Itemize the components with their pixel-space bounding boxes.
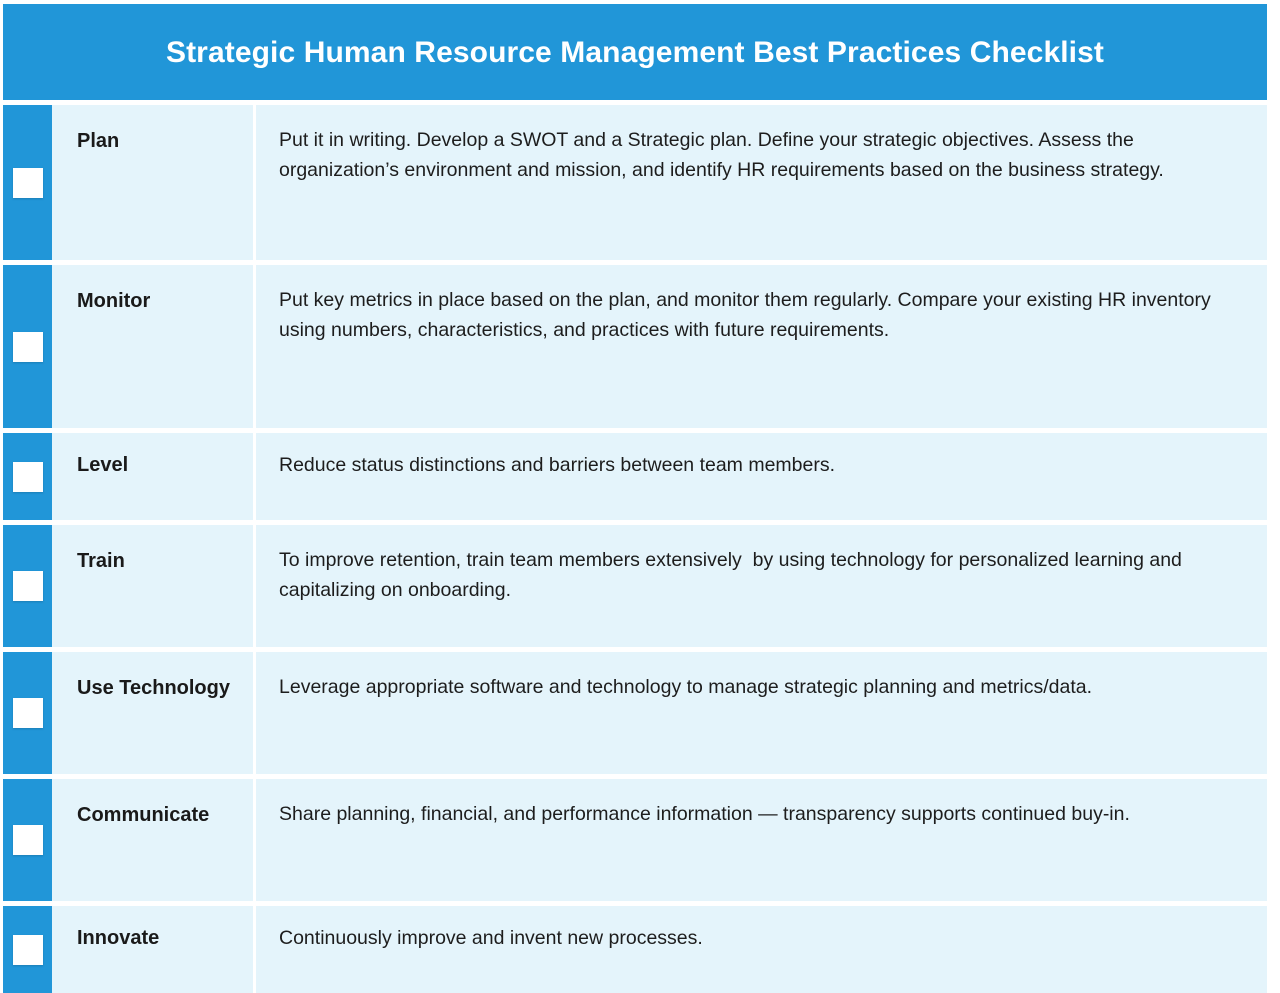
checklist-row-use-technology[interactable]: Use Technology Leverage appropriate soft… — [3, 652, 1267, 774]
item-description-cell: Continuously improve and invent new proc… — [256, 906, 1267, 993]
item-description: Leverage appropriate software and techno… — [279, 673, 1237, 703]
page-title: Strategic Human Resource Management Best… — [166, 36, 1104, 69]
item-label: Level — [77, 451, 241, 479]
checkbox-icon[interactable] — [13, 462, 43, 492]
checklist-row-train[interactable]: Train To improve retention, train team m… — [3, 525, 1267, 647]
checkbox-cell[interactable] — [3, 433, 52, 520]
checklist-row-plan[interactable]: Plan Put it in writing. Develop a SWOT a… — [3, 105, 1267, 260]
checkbox-icon[interactable] — [13, 168, 43, 198]
page-header: Strategic Human Resource Management Best… — [3, 4, 1267, 100]
checkbox-icon[interactable] — [13, 825, 43, 855]
checkbox-icon[interactable] — [13, 698, 43, 728]
item-label: Innovate — [77, 924, 241, 952]
checkbox-icon[interactable] — [13, 935, 43, 965]
item-description-cell: Share planning, financial, and performan… — [256, 779, 1267, 901]
item-description: Put key metrics in place based on the pl… — [279, 286, 1237, 346]
checklist-row-innovate[interactable]: Innovate Continuously improve and invent… — [3, 906, 1267, 993]
item-description-cell: Reduce status distinctions and barriers … — [256, 433, 1267, 520]
checklist-page: Strategic Human Resource Management Best… — [0, 0, 1280, 977]
checklist-rows: Plan Put it in writing. Develop a SWOT a… — [3, 105, 1267, 993]
item-label: Train — [77, 547, 241, 575]
item-label-cell: Communicate — [52, 779, 256, 901]
item-description-cell: To improve retention, train team members… — [256, 525, 1267, 647]
item-label: Use Technology — [77, 674, 241, 702]
checklist-row-communicate[interactable]: Communicate Share planning, financial, a… — [3, 779, 1267, 901]
item-label-cell: Level — [52, 433, 256, 520]
item-description-cell: Leverage appropriate software and techno… — [256, 652, 1267, 774]
checkbox-cell[interactable] — [3, 906, 52, 993]
item-description-cell: Put it in writing. Develop a SWOT and a … — [256, 105, 1267, 260]
item-description: Share planning, financial, and performan… — [279, 800, 1237, 830]
item-label: Communicate — [77, 801, 241, 829]
item-label-cell: Use Technology — [52, 652, 256, 774]
item-description: Continuously improve and invent new proc… — [279, 924, 1237, 954]
item-label: Plan — [77, 127, 241, 155]
checkbox-icon[interactable] — [13, 571, 43, 601]
checkbox-cell[interactable] — [3, 779, 52, 901]
checklist-row-level[interactable]: Level Reduce status distinctions and bar… — [3, 433, 1267, 520]
checkbox-icon[interactable] — [13, 332, 43, 362]
item-description-cell: Put key metrics in place based on the pl… — [256, 265, 1267, 428]
checkbox-cell[interactable] — [3, 652, 52, 774]
item-description: Reduce status distinctions and barriers … — [279, 451, 1237, 481]
item-description: To improve retention, train team members… — [279, 546, 1237, 606]
checkbox-cell[interactable] — [3, 525, 52, 647]
item-label-cell: Monitor — [52, 265, 256, 428]
checkbox-cell[interactable] — [3, 105, 52, 260]
item-description: Put it in writing. Develop a SWOT and a … — [279, 126, 1237, 186]
item-label-cell: Plan — [52, 105, 256, 260]
checkbox-cell[interactable] — [3, 265, 52, 428]
item-label: Monitor — [77, 287, 241, 315]
item-label-cell: Innovate — [52, 906, 256, 993]
item-label-cell: Train — [52, 525, 256, 647]
checklist-row-monitor[interactable]: Monitor Put key metrics in place based o… — [3, 265, 1267, 428]
